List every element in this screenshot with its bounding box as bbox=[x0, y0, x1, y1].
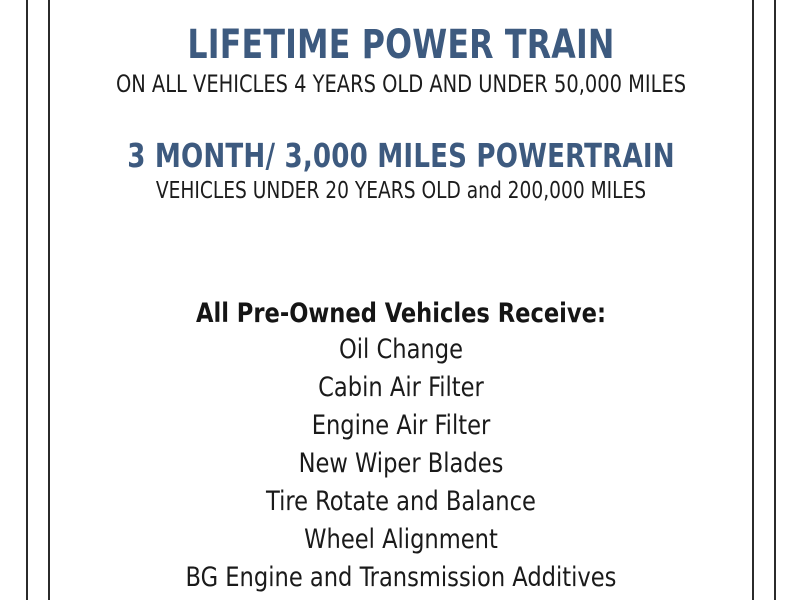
services-section: All Pre-Owned Vehicles Receive: Oil Chan… bbox=[52, 297, 750, 597]
list-item: Wheel Alignment bbox=[76, 521, 725, 559]
warranty-block-lifetime-powertrain: LIFETIME POWER TRAIN ON ALL VEHICLES 4 Y… bbox=[52, 24, 750, 98]
list-item: Tire Rotate and Balance bbox=[76, 483, 725, 521]
warranty-block-three-month-powertrain: 3 MONTH/ 3,000 MILES POWERTRAIN VEHICLES… bbox=[52, 138, 750, 204]
warranty-subtitle-primary: ON ALL VEHICLES 4 YEARS OLD AND UNDER 50… bbox=[87, 70, 715, 98]
list-item: Oil Change bbox=[76, 331, 725, 369]
warranty-title-primary: LIFETIME POWER TRAIN bbox=[94, 24, 708, 66]
border-rule-left-inner bbox=[48, 0, 50, 600]
flyer-canvas: LIFETIME POWER TRAIN ON ALL VEHICLES 4 Y… bbox=[0, 0, 800, 600]
warranty-title-secondary: 3 MONTH/ 3,000 MILES POWERTRAIN bbox=[94, 138, 708, 174]
list-item: New Wiper Blades bbox=[76, 445, 725, 483]
list-item: BG Engine and Transmission Additives bbox=[76, 559, 725, 597]
warranty-subtitle-secondary: VEHICLES UNDER 20 YEARS OLD and 200,000 … bbox=[87, 178, 715, 204]
border-rule-left-outer bbox=[26, 0, 28, 600]
flyer-content: LIFETIME POWER TRAIN ON ALL VEHICLES 4 Y… bbox=[52, 0, 750, 600]
list-item: Cabin Air Filter bbox=[76, 369, 725, 407]
border-rule-right-outer bbox=[774, 0, 776, 600]
list-item: Engine Air Filter bbox=[76, 407, 725, 445]
services-list: Oil Change Cabin Air Filter Engine Air F… bbox=[52, 331, 750, 597]
border-rule-right-inner bbox=[752, 0, 754, 600]
services-heading: All Pre-Owned Vehicles Receive: bbox=[76, 297, 725, 331]
